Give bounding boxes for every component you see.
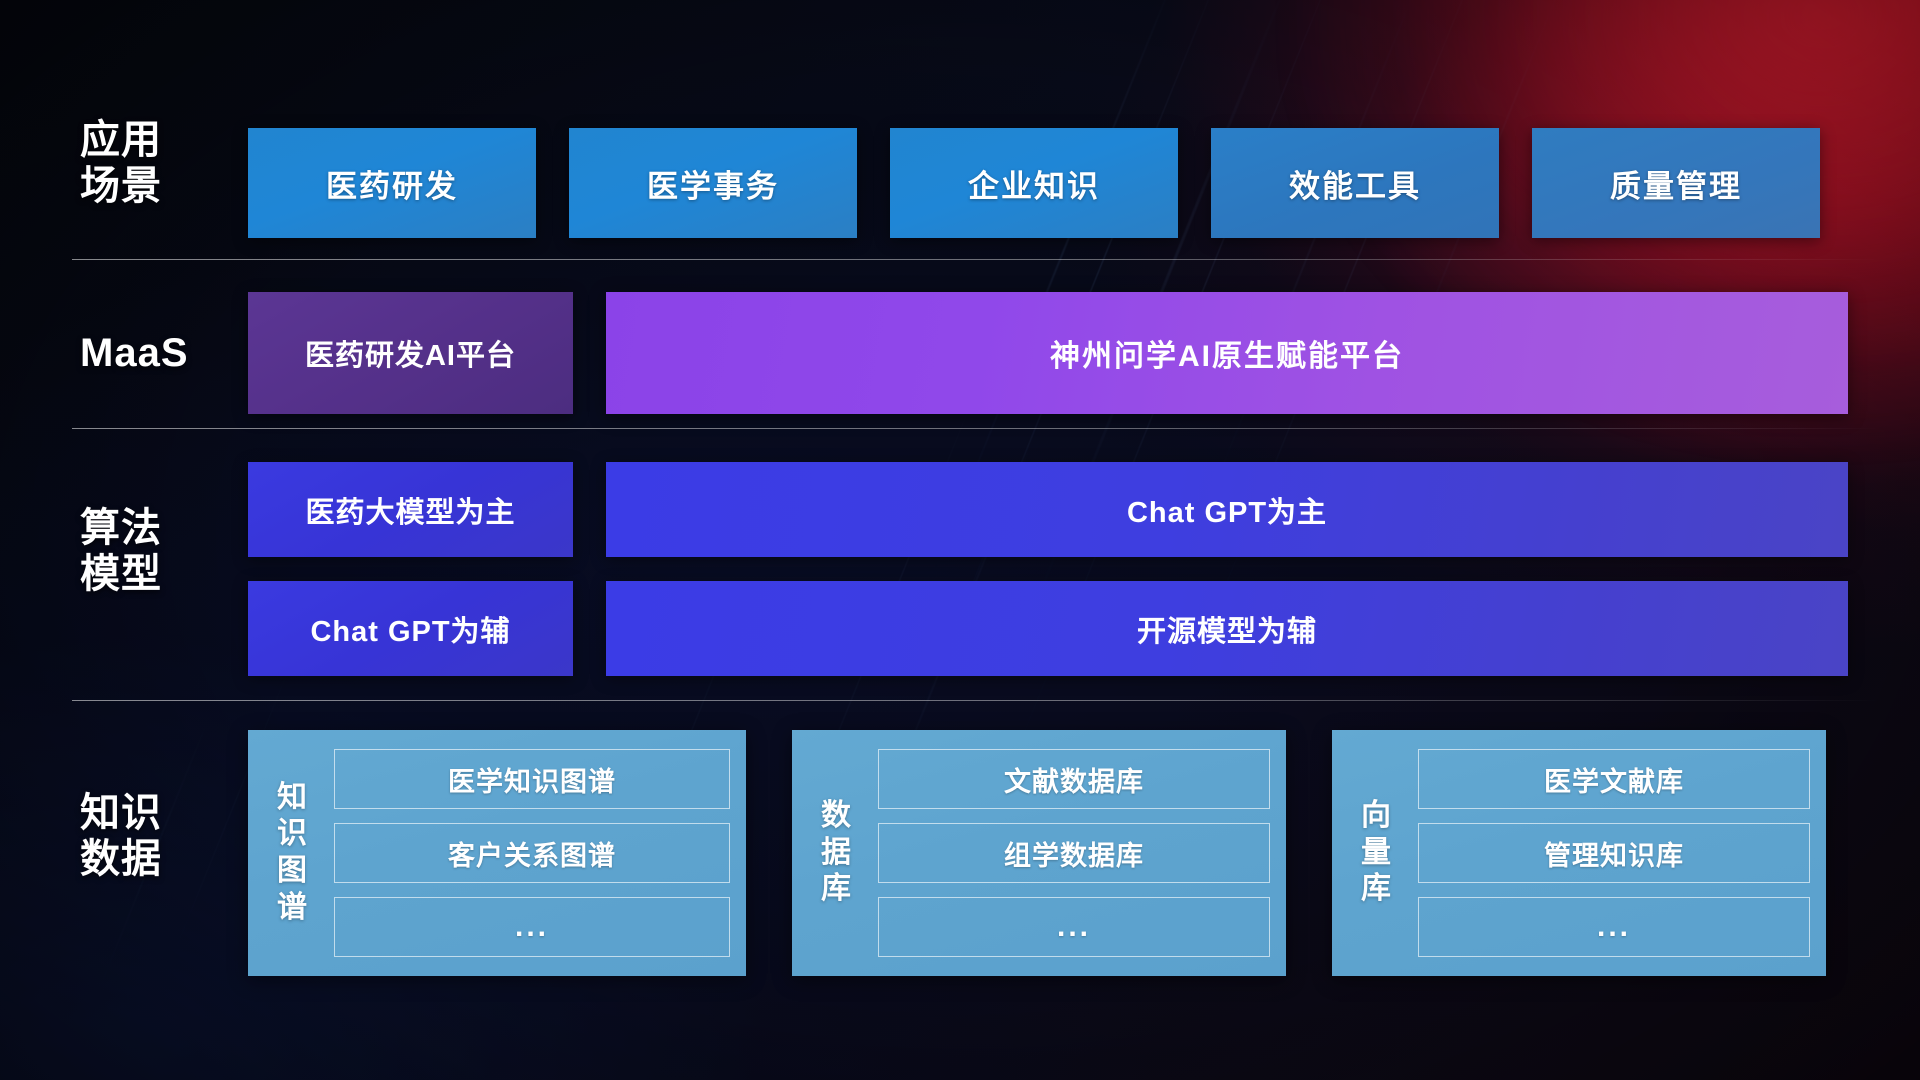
knowledge-item-list-vector-store: 医学文献库 管理知识库 ...	[1418, 744, 1810, 962]
row-label-algorithm-line1: 算法	[80, 505, 220, 551]
row-label-maas: MaaS	[80, 330, 220, 376]
knowledge-panel-database[interactable]: 数据库 文献数据库 组学数据库 ...	[792, 730, 1286, 976]
row-label-application-line2: 场景	[80, 163, 220, 209]
knowledge-panel-label-database: 数据库	[808, 744, 864, 962]
divider-maas-algorithm	[72, 428, 1880, 429]
maas-box-shenzhou-wenxue-platform[interactable]: 神州问学AI原生赋能平台	[606, 292, 1848, 414]
knowledge-panel-label-knowledge-graph: 知识图谱	[264, 744, 320, 962]
algorithm-box-chatgpt-secondary[interactable]: Chat GPT为辅	[248, 581, 573, 676]
algorithm-row-primary: 医药大模型为主 Chat GPT为主	[248, 462, 1848, 557]
algorithm-box-chatgpt-primary[interactable]: Chat GPT为主	[606, 462, 1848, 557]
row-label-application-line1: 应用	[80, 117, 220, 163]
divider-application-maas	[72, 259, 1880, 260]
application-box-qiyezhishi[interactable]: 企业知识	[890, 128, 1178, 238]
divider-algorithm-knowledge	[72, 700, 1880, 701]
architecture-diagram: 应用 场景 医药研发 医学事务 企业知识 效能工具 质量管理 MaaS 医药研发…	[0, 0, 1920, 1080]
knowledge-panel-vector-store[interactable]: 向量库 医学文献库 管理知识库 ...	[1332, 730, 1826, 976]
algorithm-box-grid: 医药大模型为主 Chat GPT为主 Chat GPT为辅 开源模型为辅	[248, 462, 1848, 676]
knowledge-item-more-database[interactable]: ...	[878, 897, 1270, 957]
knowledge-item-more-knowledge-graph[interactable]: ...	[334, 897, 730, 957]
row-label-knowledge-line2: 数据	[80, 836, 220, 882]
knowledge-item-management-knowledge-store[interactable]: 管理知识库	[1418, 823, 1810, 883]
knowledge-item-more-vector-store[interactable]: ...	[1418, 897, 1810, 957]
application-box-yixueshiwu[interactable]: 医学事务	[569, 128, 857, 238]
knowledge-item-medical-literature-store[interactable]: 医学文献库	[1418, 749, 1810, 809]
row-label-knowledge: 知识 数据	[80, 790, 220, 882]
row-label-algorithm: 算法 模型	[80, 505, 220, 597]
row-label-algorithm-line2: 模型	[80, 551, 220, 597]
knowledge-panel-list: 知识图谱 医学知识图谱 客户关系图谱 ... 数据库 文献数据库 组学数据库 .…	[248, 730, 1826, 976]
knowledge-item-list-knowledge-graph: 医学知识图谱 客户关系图谱 ...	[334, 744, 730, 962]
algorithm-box-opensource-secondary[interactable]: 开源模型为辅	[606, 581, 1848, 676]
row-label-maas-text: MaaS	[80, 330, 220, 376]
row-label-knowledge-line1: 知识	[80, 790, 220, 836]
row-label-application: 应用 场景	[80, 117, 220, 209]
knowledge-item-literature-database[interactable]: 文献数据库	[878, 749, 1270, 809]
maas-box-list: 医药研发AI平台 神州问学AI原生赋能平台	[248, 292, 1848, 414]
application-box-yiyaoyanfa[interactable]: 医药研发	[248, 128, 536, 238]
knowledge-panel-knowledge-graph[interactable]: 知识图谱 医学知识图谱 客户关系图谱 ...	[248, 730, 746, 976]
application-box-list: 医药研发 医学事务 企业知识 效能工具 质量管理	[248, 128, 1820, 238]
application-box-xiaonenggongju[interactable]: 效能工具	[1211, 128, 1499, 238]
algorithm-row-secondary: Chat GPT为辅 开源模型为辅	[248, 581, 1848, 676]
maas-box-medical-ai-platform[interactable]: 医药研发AI平台	[248, 292, 573, 414]
application-box-zhiliangguanli[interactable]: 质量管理	[1532, 128, 1820, 238]
knowledge-item-list-database: 文献数据库 组学数据库 ...	[878, 744, 1270, 962]
knowledge-item-medical-knowledge-graph[interactable]: 医学知识图谱	[334, 749, 730, 809]
algorithm-box-medical-llm-primary[interactable]: 医药大模型为主	[248, 462, 573, 557]
knowledge-panel-label-vector-store: 向量库	[1348, 744, 1404, 962]
knowledge-item-omics-database[interactable]: 组学数据库	[878, 823, 1270, 883]
knowledge-item-customer-relation-graph[interactable]: 客户关系图谱	[334, 823, 730, 883]
